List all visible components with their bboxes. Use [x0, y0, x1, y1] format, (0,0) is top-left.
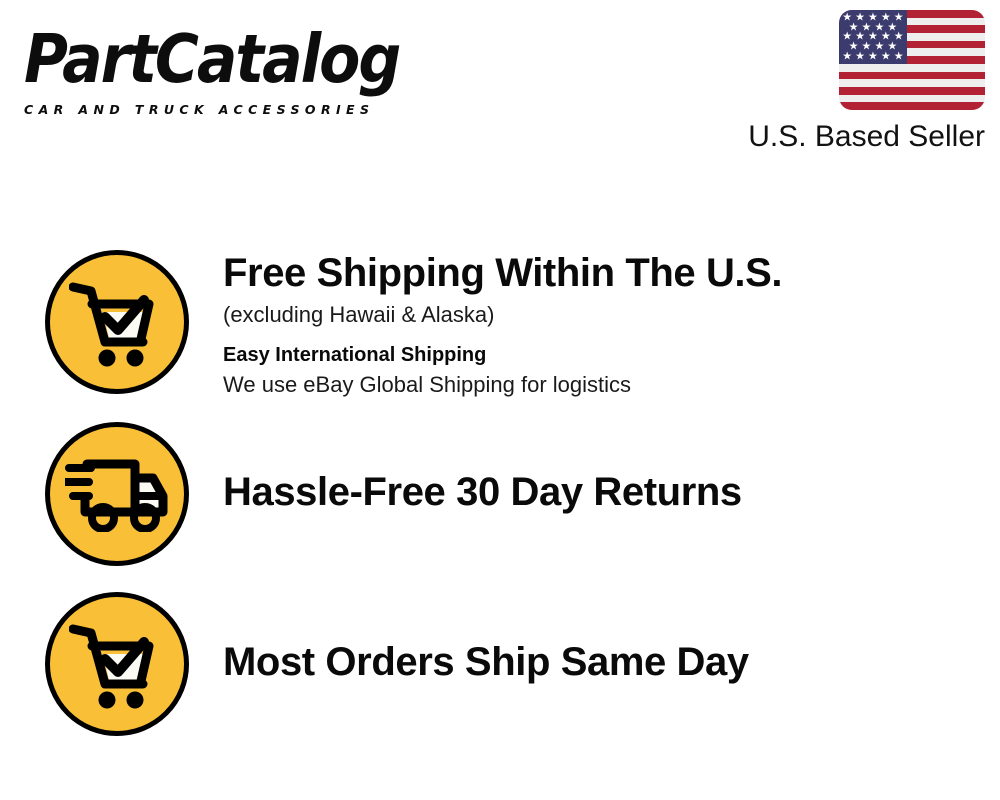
feature-headline: Free Shipping Within The U.S.	[223, 250, 985, 296]
brand-logo: PartCatalog CAR AND TRUCK ACCESSORIES	[24, 24, 494, 117]
feature-text-block: Hassle-Free 30 Day Returns	[189, 422, 985, 515]
brand-tagline: CAR AND TRUCK ACCESSORIES	[24, 102, 494, 117]
us-based-seller-badge: ★ ★ ★ ★ ★ ★ ★ ★ ★ ★ ★ ★ ★ ★ ★ ★ ★ ★ ★ ★ …	[715, 10, 985, 154]
feature-row: Free Shipping Within The U.S. (excluding…	[45, 250, 985, 400]
feature-icon-badge	[45, 592, 189, 736]
delivery-truck-icon	[65, 456, 169, 532]
feature-row: Most Orders Ship Same Day	[45, 592, 985, 736]
feature-subnote: (excluding Hawaii & Alaska)	[223, 300, 985, 330]
feature-text-block: Most Orders Ship Same Day	[189, 592, 985, 685]
feature-icon-badge	[45, 422, 189, 566]
feature-headline: Most Orders Ship Same Day	[223, 639, 985, 685]
feature-headline: Hassle-Free 30 Day Returns	[223, 469, 985, 515]
feature-subheadline: Easy International Shipping	[223, 341, 985, 369]
feature-row: Hassle-Free 30 Day Returns	[45, 422, 985, 566]
flag-canton: ★ ★ ★ ★ ★ ★ ★ ★ ★ ★ ★ ★ ★ ★ ★ ★ ★ ★ ★ ★ …	[839, 10, 907, 64]
feature-text-block: Free Shipping Within The U.S. (excluding…	[189, 250, 985, 400]
us-based-seller-label: U.S. Based Seller	[715, 120, 985, 154]
shopping-cart-check-icon	[69, 618, 165, 710]
feature-icon-badge	[45, 250, 189, 394]
feature-subdescription: We use eBay Global Shipping for logistic…	[223, 370, 985, 400]
brand-wordmark: PartCatalog	[24, 24, 494, 96]
us-flag-icon: ★ ★ ★ ★ ★ ★ ★ ★ ★ ★ ★ ★ ★ ★ ★ ★ ★ ★ ★ ★ …	[839, 10, 985, 110]
shopping-cart-check-icon	[69, 276, 165, 368]
